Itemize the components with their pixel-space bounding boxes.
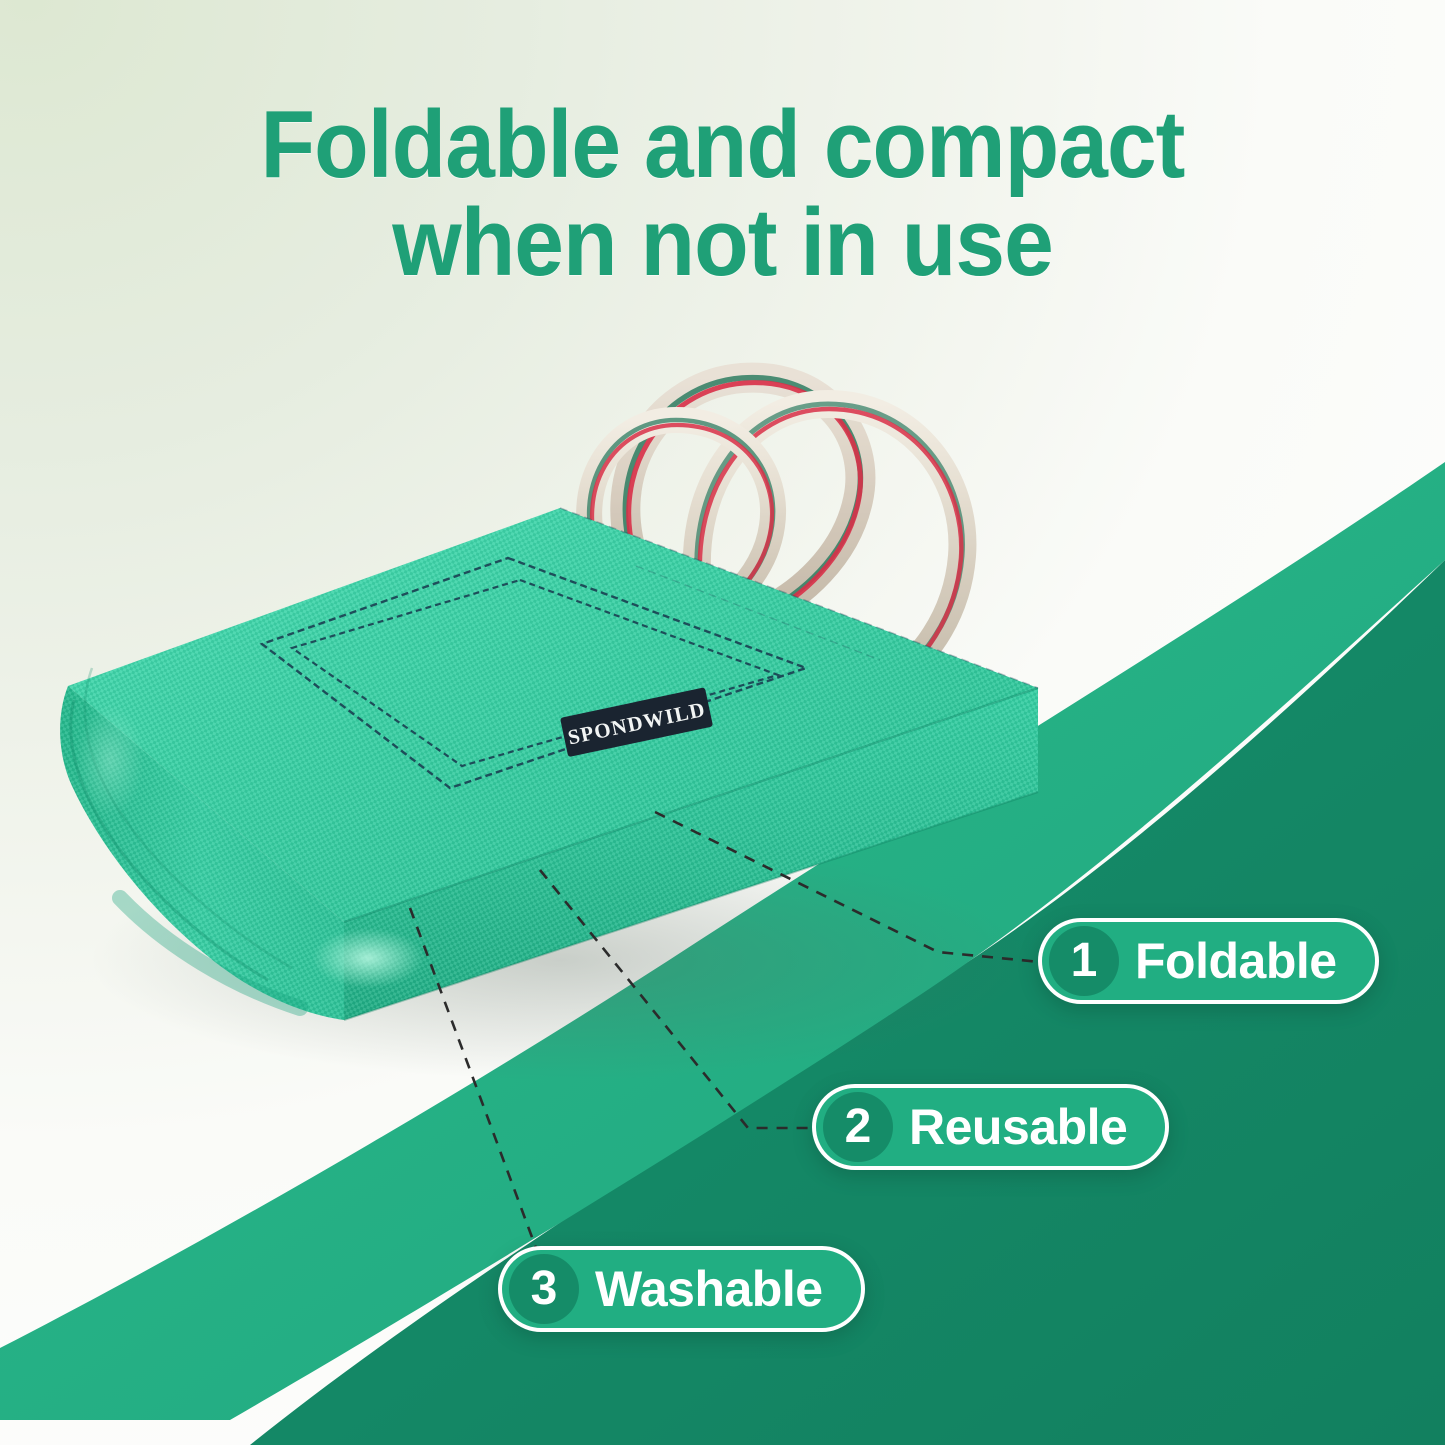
feature-badge-label-2: Reusable: [909, 1102, 1131, 1152]
feature-badge-number-3: 3: [509, 1254, 579, 1324]
feature-badge-reusable[interactable]: 2 Reusable: [812, 1084, 1169, 1170]
feature-badge-label-1: Foldable: [1135, 936, 1341, 986]
feature-badge-number-1: 1: [1049, 926, 1119, 996]
feature-badge-label-3: Washable: [595, 1264, 827, 1314]
leader-line-3: [410, 908, 536, 1248]
leader-lines: [0, 0, 1445, 1445]
leader-line-2: [540, 870, 828, 1128]
feature-badge-foldable[interactable]: 1 Foldable: [1038, 918, 1379, 1004]
feature-badge-number-2: 2: [823, 1092, 893, 1162]
infographic-canvas: Foldable and compact when not in use: [0, 0, 1445, 1445]
feature-badge-washable[interactable]: 3 Washable: [498, 1246, 865, 1332]
leader-line-1: [655, 812, 1040, 962]
